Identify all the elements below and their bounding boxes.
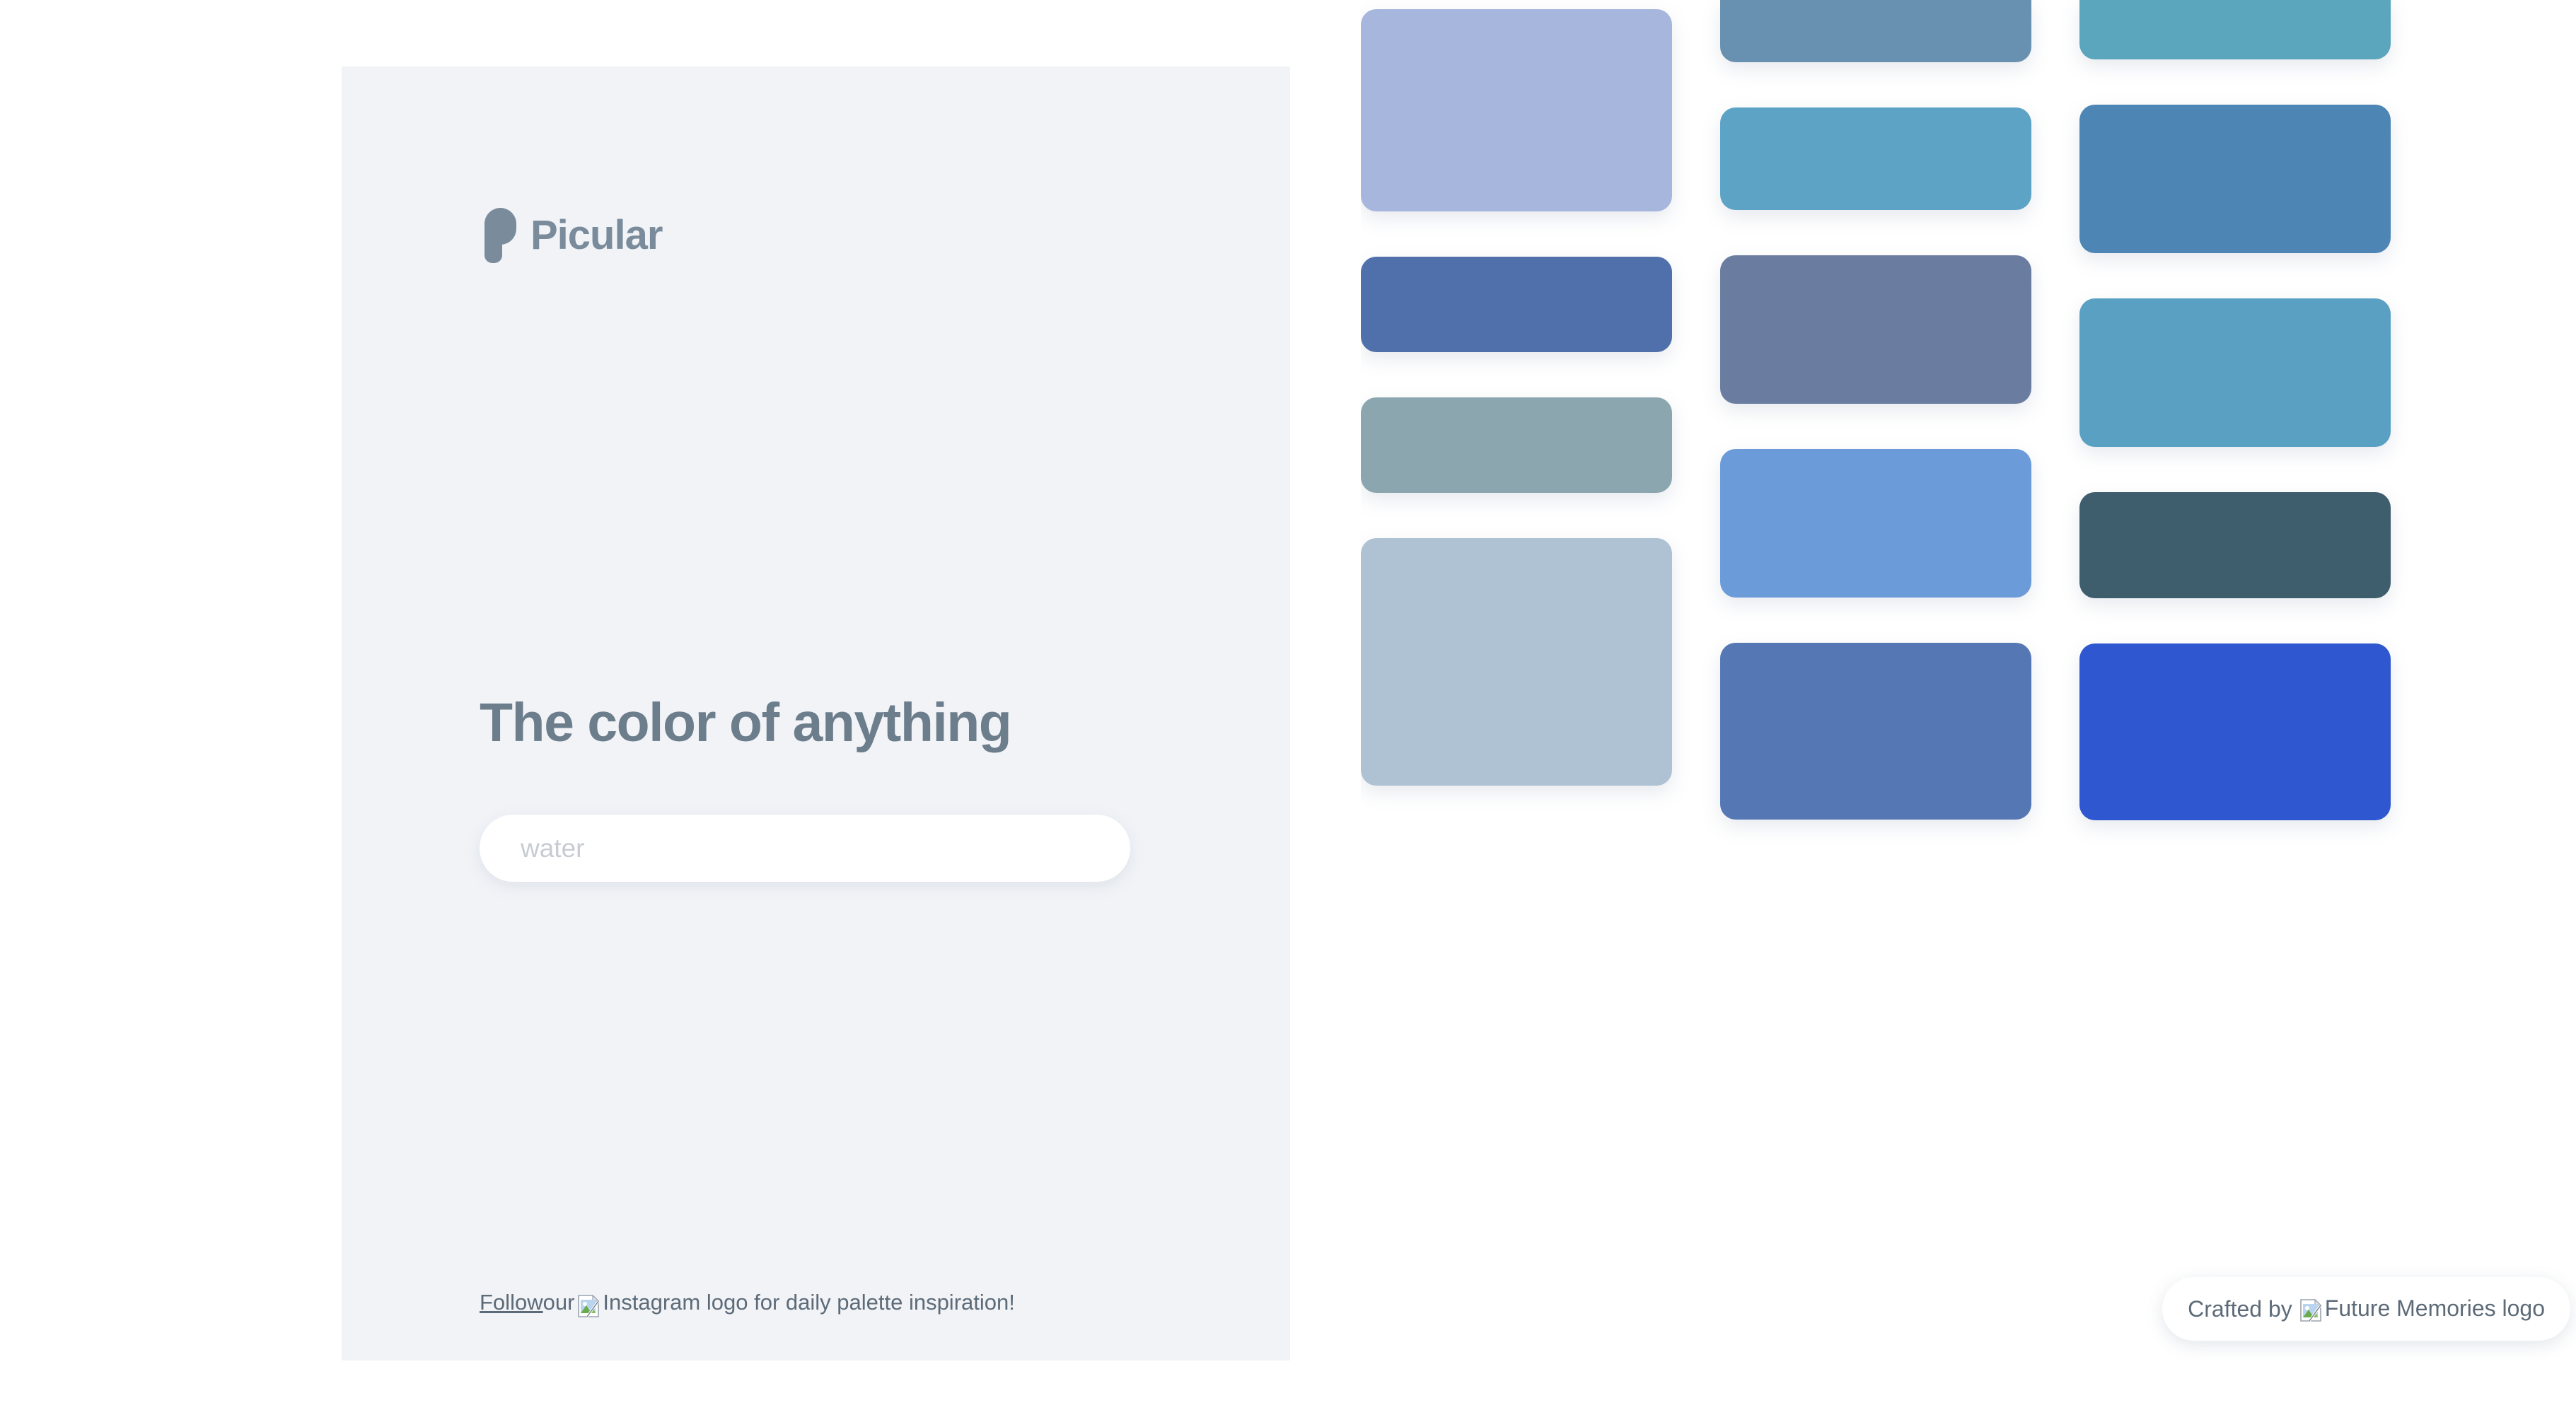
crafted-by-label: Crafted by [2188, 1296, 2292, 1322]
color-swatch[interactable] [1720, 107, 2031, 210]
color-swatch[interactable] [2079, 492, 2391, 598]
hero-section: The color of anything [480, 694, 1187, 752]
color-swatch[interactable] [2079, 298, 2391, 447]
swatch-column-3 [2079, 0, 2391, 866]
color-swatch[interactable] [1361, 257, 1672, 352]
color-swatch[interactable] [2079, 0, 2391, 59]
footer-text-after: for daily palette inspiration! [754, 1290, 1015, 1315]
color-swatch[interactable] [1720, 0, 2031, 62]
color-swatch[interactable] [1361, 397, 1672, 493]
color-swatch[interactable] [1720, 255, 2031, 404]
logo-blob-shape [485, 208, 516, 245]
swatch-column-1 [1361, 0, 1672, 831]
color-results-grid [1361, 0, 2576, 1427]
page-title: The color of anything [480, 694, 1187, 752]
broken-image-alt-future-memories: Future Memories logo [2325, 1295, 2545, 1322]
follow-link[interactable]: Follow [480, 1290, 543, 1315]
color-swatch[interactable] [1720, 643, 2031, 820]
broken-image-icon-instagram [577, 1295, 600, 1317]
broken-image-icon-future-memories [2299, 1299, 2322, 1322]
footer-inspiration-line: FollowourInstagram logo for daily palett… [480, 1290, 1187, 1316]
swatch-column-2 [1720, 0, 2031, 865]
color-swatch[interactable] [1361, 538, 1672, 786]
color-swatch[interactable] [2079, 105, 2391, 253]
brand-logo-group[interactable]: Picular [480, 208, 662, 263]
logo-tail-shape [485, 240, 502, 263]
search-field-wrapper [480, 815, 1130, 882]
search-input[interactable] [480, 815, 1130, 882]
crafted-by-badge[interactable]: Crafted byFuture Memories logo [2162, 1277, 2570, 1341]
brand-name: Picular [530, 215, 662, 256]
picular-p-logo-icon [480, 208, 516, 263]
broken-image-alt-instagram: Instagram logo [603, 1290, 748, 1315]
picular-page: Picular The color of anything FollowourI… [0, 0, 2576, 1427]
footer-text-before: our [543, 1290, 575, 1315]
color-swatch[interactable] [1361, 9, 1672, 211]
color-swatch[interactable] [2079, 643, 2391, 820]
left-panel-card: Picular The color of anything FollowourI… [342, 66, 1290, 1361]
color-swatch[interactable] [1720, 449, 2031, 598]
